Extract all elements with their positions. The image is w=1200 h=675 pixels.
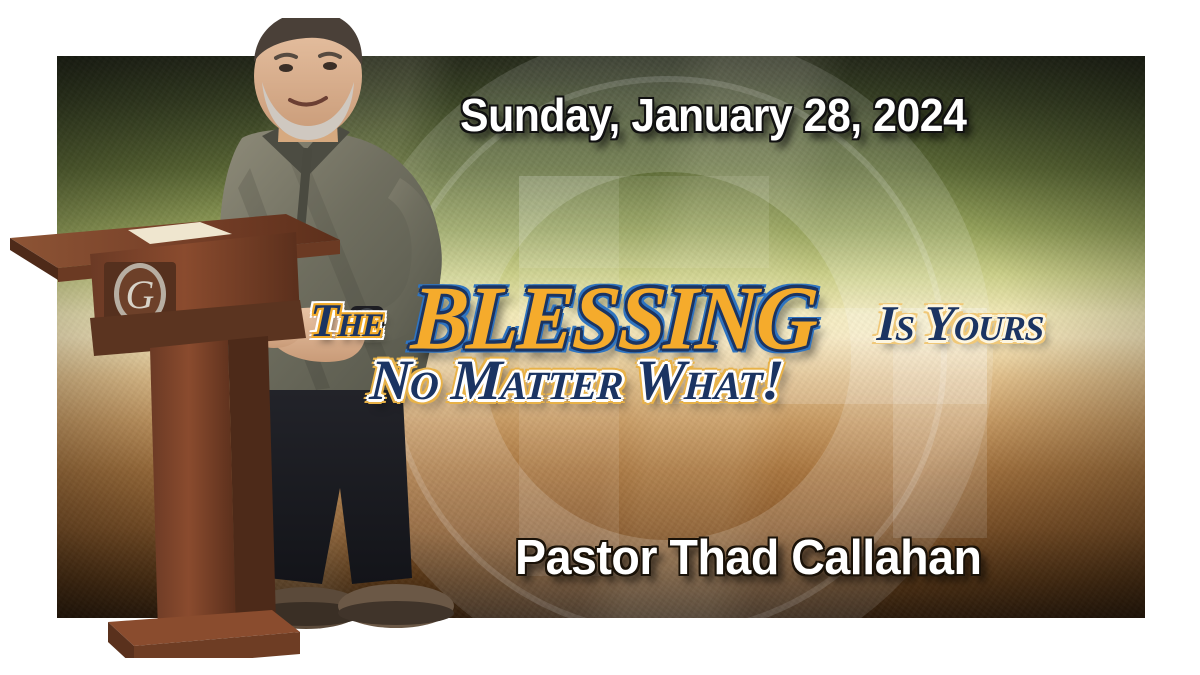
service-date: Sunday, January 28, 2024 xyxy=(460,92,966,138)
speaker-name: Pastor Thad Callahan xyxy=(515,534,981,583)
title-word-the: The xyxy=(309,298,384,345)
title-subtitle-no-matter-what: No Matter What! xyxy=(369,352,785,409)
slide-canvas: G Sunday, January 28, 2024 The BLESSING … xyxy=(0,0,1200,675)
sermon-title: The BLESSING Is Yours No Matter What! xyxy=(300,270,1160,410)
title-word-is-yours: Is Yours xyxy=(876,298,1044,348)
